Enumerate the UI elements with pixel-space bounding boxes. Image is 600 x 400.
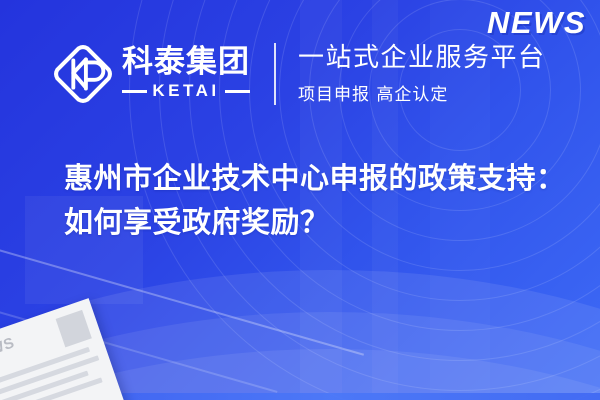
header-divider: [274, 43, 276, 105]
slogan-sub: 项目申报 高企认定: [298, 80, 546, 105]
slogan-block: 一站式企业服务平台 项目申报 高企认定: [298, 43, 546, 105]
logo-name-en: KETAI: [152, 81, 219, 101]
newspaper-masthead: NEWS: [0, 334, 17, 365]
ketai-diamond-logo-icon: [52, 43, 114, 105]
news-banner: 科泰集团 KETAI 一站式企业服务平台 项目申报 高企认定 NEWS 惠州市企…: [0, 0, 600, 400]
slogan-main: 一站式企业服务平台: [298, 43, 546, 75]
banner-header: 科泰集团 KETAI 一站式企业服务平台 项目申报 高企认定: [52, 30, 546, 118]
logo-dash-left: [122, 90, 147, 93]
news-badge: NEWS: [487, 5, 586, 41]
newspaper-thumbnail: [56, 310, 92, 347]
logo-wordmark: 科泰集团 KETAI: [122, 47, 250, 102]
logo-name-en-row: KETAI: [122, 81, 250, 101]
logo-name-cn: 科泰集团: [122, 47, 250, 79]
logo-dash-right: [225, 90, 250, 93]
newspaper-illustration: NEWS: [0, 298, 128, 400]
headline-title: 惠州市企业技术中心申报的政策支持：如何享受政府奖励？: [64, 156, 569, 245]
